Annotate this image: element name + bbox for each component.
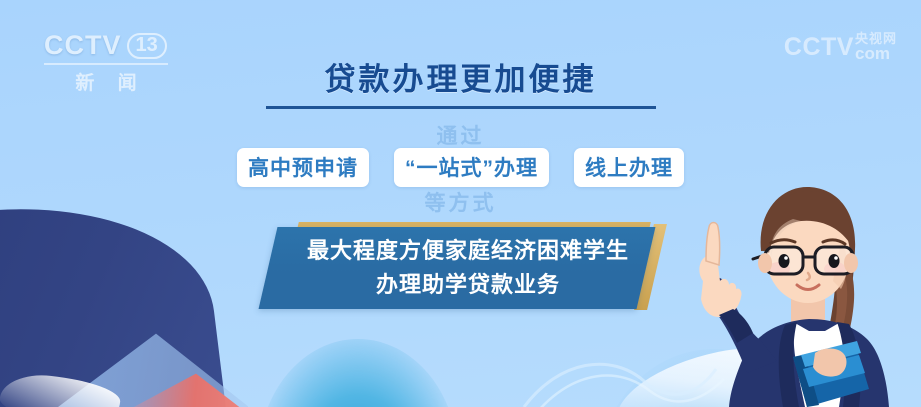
headline-title: 贷款办理更加便捷 bbox=[325, 54, 597, 99]
highlight-banner: 最大程度方便家庭经济困难学生 办理助学贷款业务 bbox=[258, 222, 678, 314]
banner-line-1: 办理助学贷款业务 bbox=[376, 269, 560, 301]
light-blue-wedge-shape bbox=[18, 327, 248, 407]
banner-text-group: 最大程度方便家庭经济困难学生 办理助学贷款业务 bbox=[258, 222, 678, 314]
coral-wedge-shape bbox=[52, 361, 252, 407]
navy-blob-shape bbox=[0, 184, 239, 407]
headline-block: 贷款办理更加便捷 bbox=[0, 54, 921, 109]
tag-item-0: 高中预申请 bbox=[237, 148, 369, 187]
woman-pointing-up-illustration bbox=[673, 177, 921, 407]
connector-text-top: 通过 bbox=[0, 120, 921, 150]
tag-item-2: 线上办理 bbox=[574, 148, 684, 187]
broadcast-graphic-frame: CCTV 13 新 闻 CCTV 央视网 com 贷款办理更加便捷 通过 高中预… bbox=[0, 0, 921, 407]
blue-dome-shape bbox=[258, 339, 458, 407]
headline-underline bbox=[266, 106, 656, 109]
tag-item-1: “一站式”办理 bbox=[394, 148, 549, 187]
banner-line-0: 最大程度方便家庭经济困难学生 bbox=[307, 235, 629, 267]
white-swoosh-shape-left bbox=[0, 371, 122, 407]
